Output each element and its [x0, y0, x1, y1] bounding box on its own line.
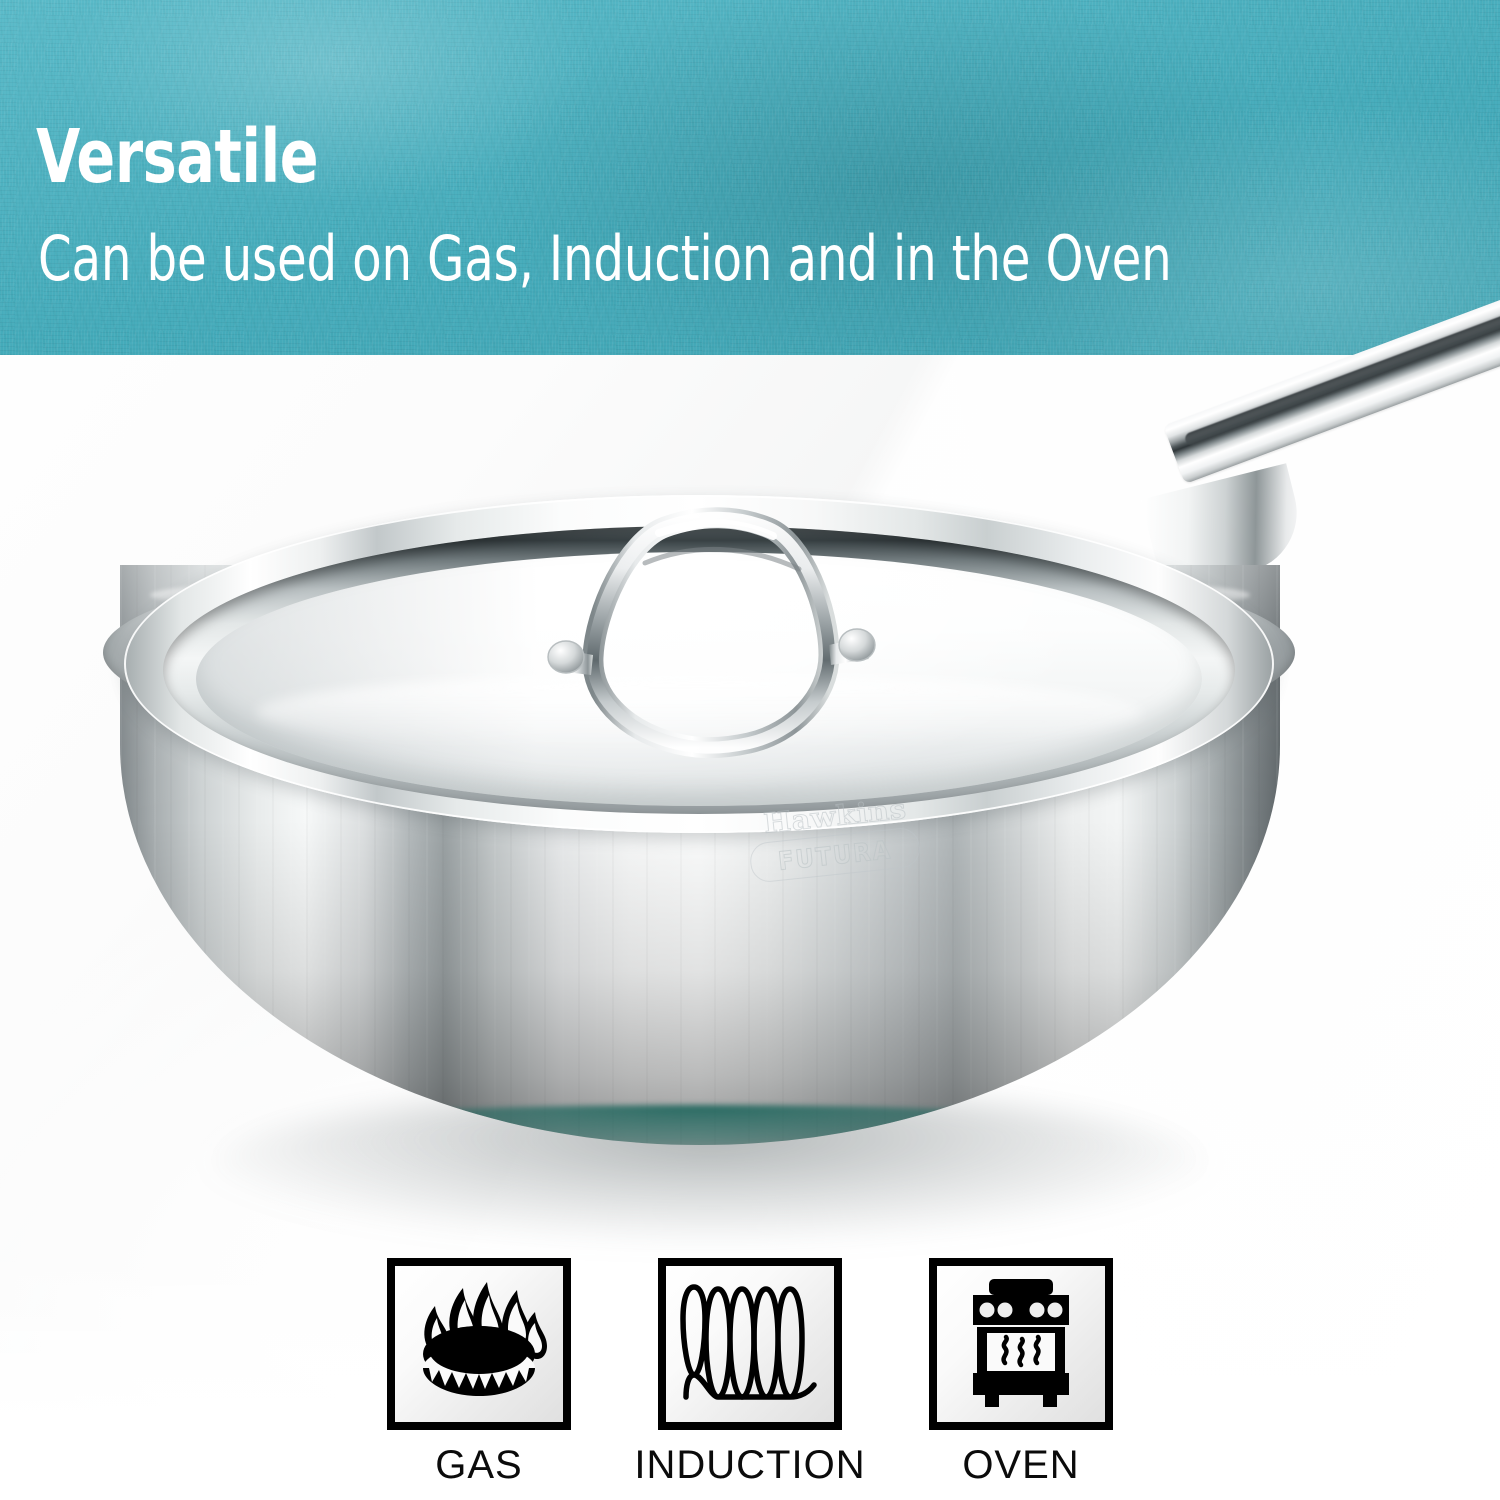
- induction-icon-box: [658, 1258, 842, 1430]
- compatibility-item-induction: INDUCTION: [651, 1258, 849, 1485]
- header-banner: Versatile Can be used on Gas, Induction …: [0, 0, 1500, 355]
- induction-label: INDUCTION: [634, 1445, 865, 1485]
- product-feature-banner: Versatile Can be used on Gas, Induction …: [0, 0, 1500, 1500]
- oven-icon-box: [929, 1258, 1113, 1430]
- oven-label: OVEN: [962, 1445, 1079, 1485]
- compatibility-item-oven: OVEN: [922, 1258, 1120, 1485]
- product-photo: Hawkins FUTURA: [0, 330, 1500, 1280]
- banner-headline: Versatile: [36, 120, 318, 194]
- lid-handle-top-shadow: [645, 549, 799, 569]
- lid-handle: [541, 505, 881, 760]
- oven-range-icon: [955, 1277, 1087, 1411]
- lid-handle-right-rivet: [839, 629, 875, 661]
- induction-coil-icon: [680, 1279, 820, 1409]
- gas-burner-icon: [409, 1278, 549, 1410]
- lid-handle-left-rivet: [548, 641, 584, 673]
- gas-label: GAS: [435, 1445, 522, 1485]
- compatibility-icon-row: GAS INDUCTION: [380, 1258, 1120, 1488]
- compatibility-item-gas: GAS: [380, 1258, 578, 1485]
- banner-subheadline: Can be used on Gas, Induction and in the…: [38, 228, 1172, 290]
- gas-icon-box: [387, 1258, 571, 1430]
